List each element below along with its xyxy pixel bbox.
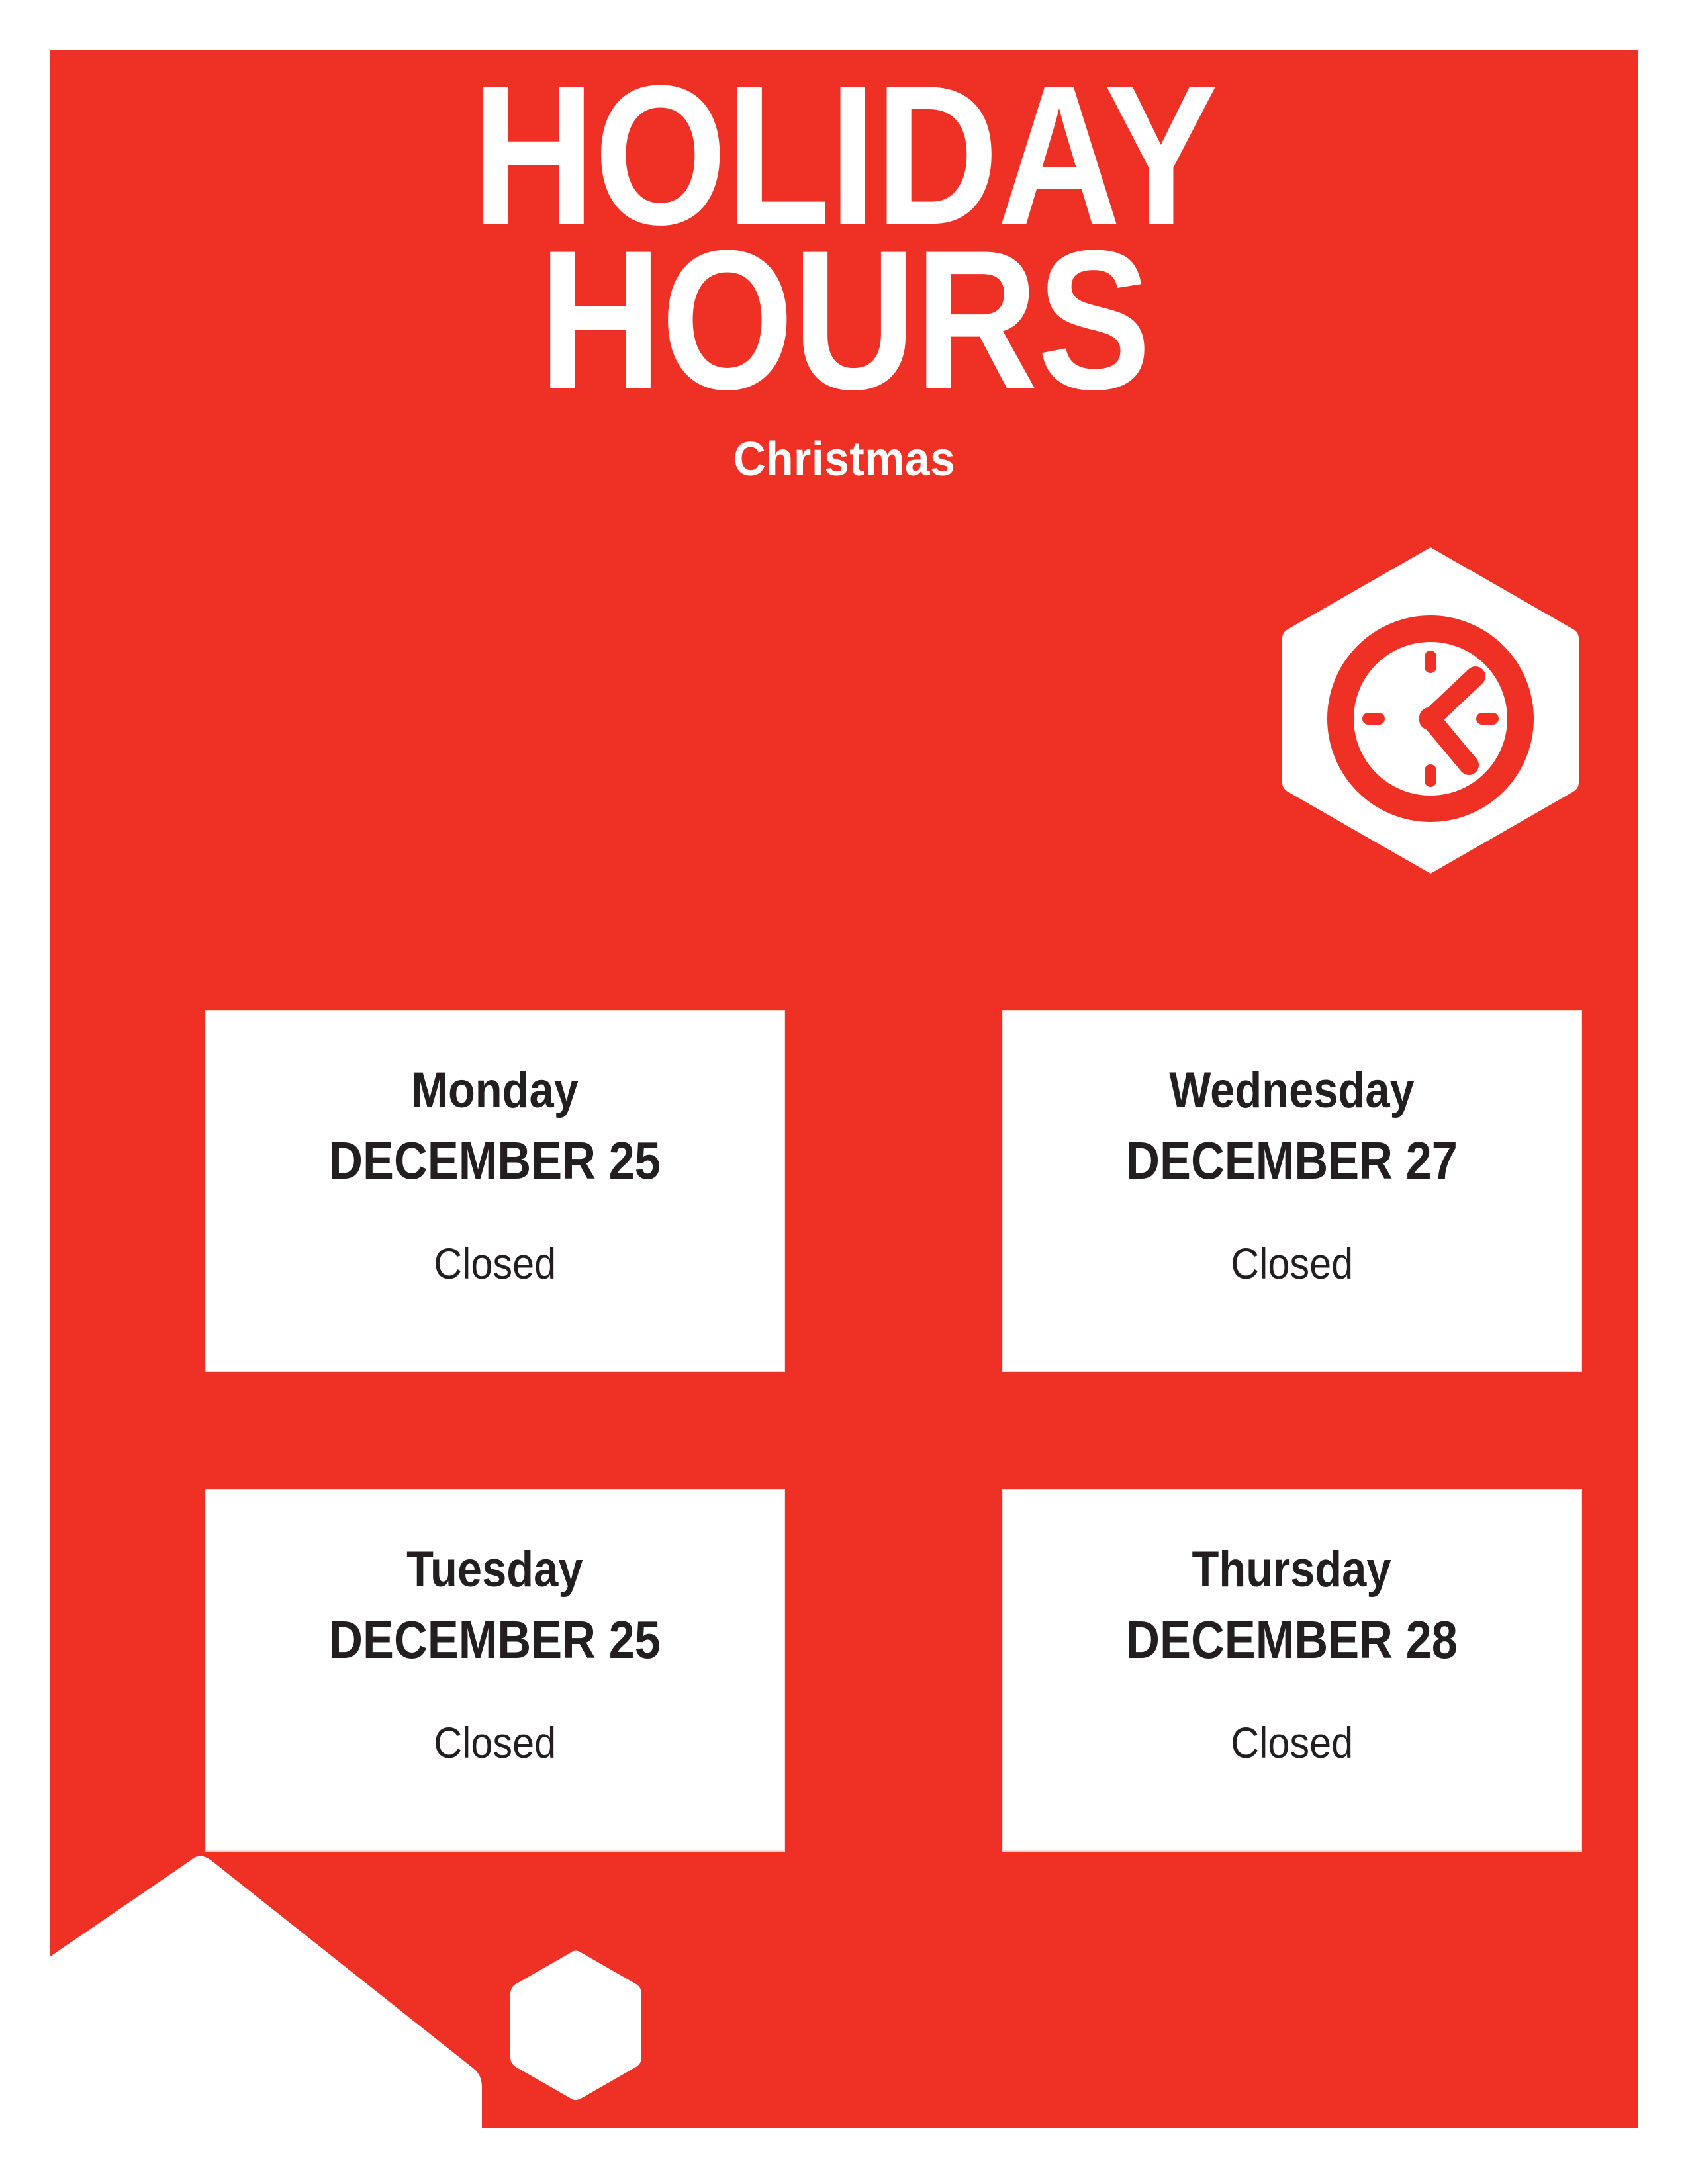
schedule-card[interactable]: Monday DECEMBER 25 Closed — [205, 1010, 785, 1372]
large-hexagon-icon — [50, 1856, 482, 2128]
card-day-label: Thursday — [1192, 1490, 1391, 1595]
schedule-card[interactable]: Tuesday DECEMBER 25 Closed — [205, 1489, 785, 1852]
page-title: HOLIDAY HOURS — [162, 50, 1527, 402]
card-date-label: DECEMBER 25 — [329, 1595, 661, 1666]
card-day-label: Tuesday — [406, 1490, 583, 1595]
card-hours-label: Closed — [1231, 1666, 1353, 1764]
poster-page: HOLIDAY HOURS Christmas — [0, 0, 1688, 2184]
clock-tick-6-icon — [1425, 764, 1436, 787]
clock-badge — [1278, 543, 1583, 878]
poster-panel: HOLIDAY HOURS Christmas — [50, 50, 1638, 2128]
card-date-label: DECEMBER 25 — [329, 1116, 661, 1187]
card-date-label: DECEMBER 28 — [1126, 1595, 1458, 1666]
card-date-label: DECEMBER 27 — [1126, 1116, 1458, 1187]
schedule-grid: Monday DECEMBER 25 Closed Wednesday DECE… — [205, 1010, 1489, 1852]
clock-tick-9-icon — [1362, 713, 1385, 725]
card-day-label: Monday — [411, 1011, 579, 1116]
poster-header: HOLIDAY HOURS Christmas — [50, 50, 1638, 483]
small-hexagon-icon — [510, 1951, 641, 2101]
schedule-card[interactable]: Thursday DECEMBER 28 Closed — [1002, 1489, 1582, 1852]
card-hours-label: Closed — [434, 1666, 556, 1764]
card-hours-label: Closed — [1231, 1187, 1353, 1285]
schedule-card[interactable]: Wednesday DECEMBER 27 Closed — [1002, 1010, 1582, 1372]
clock-tick-3-icon — [1476, 713, 1499, 725]
card-day-label: Wednesday — [1169, 1011, 1414, 1116]
decorative-hexagons — [50, 1804, 1638, 2128]
card-hours-label: Closed — [434, 1187, 556, 1285]
poster-subtitle: Christmas — [98, 402, 1591, 483]
clock-tick-12-icon — [1425, 651, 1436, 673]
